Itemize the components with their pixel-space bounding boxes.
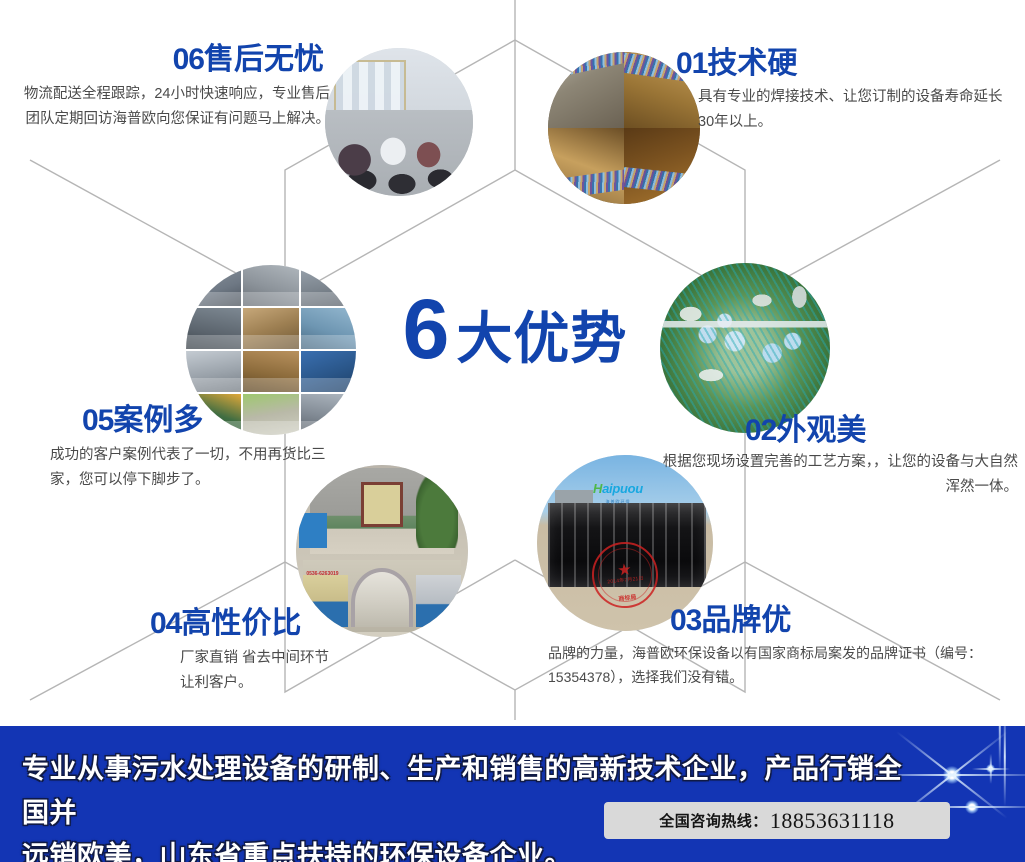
feature-number-03: 03 bbox=[670, 604, 701, 637]
plant-photo-art bbox=[660, 263, 830, 433]
weld-cell-4 bbox=[624, 128, 700, 204]
weld-seam-stripe bbox=[548, 167, 624, 202]
photo-aerial-wastewater-plant bbox=[660, 263, 830, 433]
feature-number-02: 02 bbox=[745, 414, 776, 447]
feature-block-05: 05案例多 成功的客户案例代表了一切，不用再货比三家，您可以停下脚步了。 bbox=[36, 405, 326, 493]
hotline-box: 全国咨询热线： 18853631118 bbox=[604, 802, 950, 839]
collage-tile bbox=[301, 308, 356, 349]
feature-number-06: 06 bbox=[173, 43, 204, 76]
feature-body-04: 厂家直销 省去中间环节 让利客户。 bbox=[150, 646, 480, 696]
feature-block-02: 02外观美 根据您现场设置完善的工艺方案，，让您的设备与大自然浑然一体。 bbox=[660, 415, 1018, 500]
flare-core bbox=[965, 800, 979, 814]
feature-title-01: 01技术硬 bbox=[676, 48, 1006, 80]
brand-rest: aipuou bbox=[602, 481, 643, 496]
feature-title-02: 02外观美 bbox=[660, 415, 1018, 447]
flare-ray-horizontal bbox=[972, 768, 1010, 770]
collage-tile bbox=[186, 351, 241, 392]
feature-body-02: 根据您现场设置完善的工艺方案，，让您的设备与大自然浑然一体。 bbox=[660, 450, 1018, 500]
flare-ray-vertical bbox=[1004, 726, 1006, 807]
center-badge: 6 大优势 bbox=[390, 292, 640, 388]
feature-body-06: 物流配送全程跟踪，24小时快速响应，专业售后团队定期回访海普欧向您保证有问题马上… bbox=[10, 82, 330, 132]
feature-name-05: 案例多 bbox=[113, 404, 203, 437]
blue-wall-panel bbox=[299, 513, 327, 547]
hotline-label: 全国咨询热线： bbox=[659, 810, 768, 831]
feature-block-04: 04高性价比 厂家直销 省去中间环节 让利客户。 bbox=[150, 608, 480, 696]
flare-core bbox=[986, 764, 995, 773]
feature-title-04: 04高性价比 bbox=[150, 608, 480, 640]
collage-tile bbox=[243, 308, 298, 349]
hotline-number: 18853631118 bbox=[770, 808, 895, 834]
weld-cell-3 bbox=[548, 128, 624, 204]
feature-number-05: 05 bbox=[82, 404, 113, 437]
six-advantages-infographic: 6 大优势 Haipuou 海普欧环保 ★ 2014年7月21日 bbox=[0, 0, 1025, 862]
brand-wordmark: Haipuou bbox=[593, 481, 643, 496]
feature-name-06: 售后无忧 bbox=[204, 43, 324, 76]
brand-subtitle: 海普欧环保 bbox=[605, 499, 630, 505]
feature-body-03: 品牌的力量，海普欧环保设备以有国家商标局案发的品牌证书（编号：15354378）… bbox=[548, 641, 1018, 689]
feature-name-03: 品牌优 bbox=[701, 604, 791, 637]
bottom-slogan-banner: 专业从事污水处理设备的研制、生产和销售的高新技术企业，产品行销全国并 远销欧美，… bbox=[0, 726, 1025, 862]
feature-number-04: 04 bbox=[150, 607, 181, 640]
trees-cluster bbox=[416, 475, 457, 547]
collage-tile bbox=[186, 265, 241, 306]
flare-ray-vertical bbox=[999, 726, 1001, 772]
feature-block-03: 03品牌优 品牌的力量，海普欧环保设备以有国家商标局案发的品牌证书（编号：153… bbox=[548, 605, 1018, 690]
feature-number-01: 01 bbox=[676, 47, 707, 80]
seal-bottom-text: 商标局 bbox=[618, 591, 637, 602]
flare-core bbox=[943, 766, 961, 784]
feature-title-06: 06售后无忧 bbox=[10, 44, 330, 76]
collage-tile bbox=[301, 265, 356, 306]
brand-initial: H bbox=[593, 481, 602, 496]
feature-name-02: 外观美 bbox=[776, 414, 866, 447]
feature-body-01: 具有专业的焊接技术、让您订制的设备寿命延长30年以上。 bbox=[676, 85, 1006, 135]
feature-block-06: 06售后无忧 物流配送全程跟踪，24小时快速响应，专业售后团队定期回访海普欧向您… bbox=[10, 44, 330, 132]
gate-phone-text: 0536-6263019 bbox=[306, 571, 338, 577]
collage-tile bbox=[186, 308, 241, 349]
photo-office-staff-at-computers bbox=[325, 48, 473, 196]
flare-ray-vertical bbox=[990, 754, 992, 784]
center-label: 大优势 bbox=[456, 311, 627, 367]
collage-tile bbox=[301, 351, 356, 392]
weld-seam-stripe bbox=[548, 52, 624, 82]
company-signboard bbox=[361, 482, 402, 527]
weld-seam-stripe bbox=[624, 165, 700, 197]
feature-block-01: 01技术硬 具有专业的焊接技术、让您订制的设备寿命延长30年以上。 bbox=[676, 48, 1006, 135]
feature-name-01: 技术硬 bbox=[707, 47, 797, 80]
feature-title-03: 03品牌优 bbox=[548, 605, 1018, 637]
center-number: 6 bbox=[403, 292, 448, 368]
office-photo-art bbox=[325, 48, 473, 196]
collage-tile bbox=[243, 265, 298, 306]
collage-tile bbox=[243, 351, 298, 392]
feature-title-05: 05案例多 bbox=[36, 405, 326, 437]
weld-cell-1 bbox=[548, 52, 624, 128]
feature-name-04: 高性价比 bbox=[181, 607, 301, 640]
feature-body-05: 成功的客户案例代表了一切，不用再货比三家，您可以停下脚步了。 bbox=[36, 443, 326, 493]
